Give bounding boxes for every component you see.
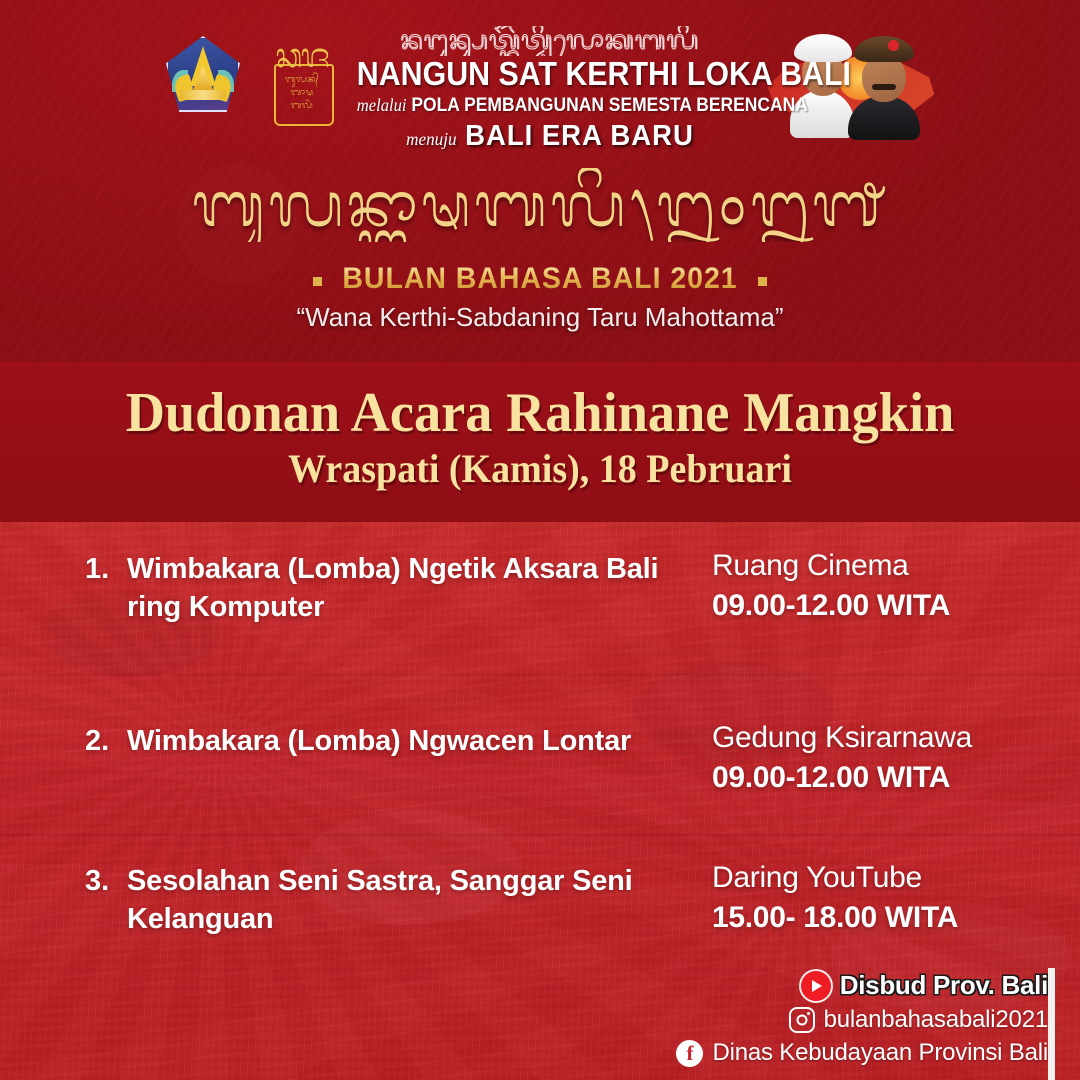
bullet-square-left-icon bbox=[313, 277, 322, 286]
poster-header: ᬘᬚ ᬩᬸᬮᬦ᭄ᬩᬵᬱᬩᬮᬶ ᬦᬗᬸᬦ᭄ᬲᬢ᭄ᬓᭂᬃᬢ᭄ᬣᬶᬮᭀᬓᬩᬮᬶ NAN… bbox=[0, 0, 1080, 362]
row-number: 1. bbox=[85, 550, 125, 588]
event-name: BULAN BAHASA BALI 2021 bbox=[342, 262, 737, 296]
slogan-line-1: NANGUN SAT KERTHI LOKA BALI bbox=[357, 56, 743, 92]
instagram-handle: bulanbahasabali2021 bbox=[824, 1006, 1048, 1034]
bullet-square-right-icon bbox=[758, 277, 767, 286]
banner-title: Dudonan Acara Rahinane Mangkin bbox=[16, 382, 1064, 444]
poster-canvas: ᬘᬚ ᬩᬸᬮᬦ᭄ᬩᬵᬱᬩᬮᬶ ᬦᬗᬸᬦ᭄ᬲᬢ᭄ᬓᭂᬃᬢ᭄ᬣᬶᬮᭀᬓᬩᬮᬶ NAN… bbox=[0, 0, 1080, 1080]
row-title: Wimbakara (Lomba) Ngetik Aksara Bali rin… bbox=[127, 550, 697, 626]
social-youtube-row[interactable]: Disbud Prov. Bali bbox=[618, 970, 1048, 1001]
slogan-line-2-main: POLA PEMBANGUNAN SEMESTA BERENCANA bbox=[411, 95, 808, 116]
slogan-line-2-prefix: melalui bbox=[357, 95, 407, 115]
footer-accent-bar bbox=[1048, 968, 1055, 1080]
facebook-handle: Dinas Kebudayaan Provinsi Bali bbox=[712, 1039, 1048, 1067]
social-facebook-row[interactable]: f Dinas Kebudayaan Provinsi Bali bbox=[618, 1039, 1048, 1067]
slogan-line-2: melalui POLA PEMBANGUNAN SEMESTA BERENCA… bbox=[357, 92, 743, 119]
row-time: 09.00-12.00 WITA bbox=[712, 758, 1072, 798]
event-tagline: “Wana Kerthi-Sabdaning Taru Mahottama” bbox=[0, 302, 1080, 333]
row-place: Gedung Ksirarnawa bbox=[712, 718, 1072, 758]
instagram-icon bbox=[789, 1007, 815, 1033]
row-time: 15.00- 18.00 WITA bbox=[712, 898, 1072, 938]
slogan-line-3-prefix: menuju bbox=[406, 129, 456, 149]
event-name-row: BULAN BAHASA BALI 2021 bbox=[0, 262, 1080, 296]
row-number: 3. bbox=[85, 862, 125, 900]
youtube-handle: Disbud Prov. Bali bbox=[840, 970, 1048, 1001]
slogan-line-3-main: BALI ERA BARU bbox=[465, 120, 694, 152]
social-instagram-row[interactable]: bulanbahasabali2021 bbox=[618, 1006, 1048, 1034]
title-banner: Dudonan Acara Rahinane Mangkin Wraspati … bbox=[0, 362, 1080, 522]
provincial-slogan-block: ᬦᬗᬸᬦ᭄ᬲᬢ᭄ᬓᭂᬃᬢ᭄ᬣᬶᬮᭀᬓᬩᬮᬶ NANGUN SAT KERTHI … bbox=[340, 26, 760, 156]
row-place: Daring YouTube bbox=[712, 858, 1072, 898]
bulan-bahasa-bali-lontar-logo-icon: ᬘᬚ ᬩᬸᬮᬦ᭄ᬩᬵᬱᬩᬮᬶ bbox=[265, 30, 339, 126]
bali-province-emblem-icon bbox=[166, 36, 240, 112]
facebook-icon: f bbox=[676, 1040, 703, 1067]
social-footer: Disbud Prov. Bali bulanbahasabali2021 f … bbox=[618, 970, 1048, 1072]
event-title-balinese-script: ᬩᬸᬮᬦ᭄ᬩᬵᬱᬩᬮᬶ᭞᭒᭐᭒᭑ bbox=[0, 168, 1080, 242]
row-number: 2. bbox=[85, 722, 125, 760]
row-title: Wimbakara (Lomba) Ngwacen Lontar bbox=[127, 722, 697, 760]
row-place: Ruang Cinema bbox=[712, 546, 1072, 586]
row-title: Sesolahan Seni Sastra, Sanggar Seni Kela… bbox=[127, 862, 697, 938]
row-time: 09.00-12.00 WITA bbox=[712, 586, 1072, 626]
banner-subtitle: Wraspati (Kamis), 18 Pebruari bbox=[27, 446, 1053, 492]
slogan-aksara-text: ᬦᬗᬸᬦ᭄ᬲᬢ᭄ᬓᭂᬃᬢ᭄ᬣᬶᬮᭀᬓᬩᬮᬶ bbox=[340, 26, 760, 56]
slogan-line-3: menuju BALI ERA BARU bbox=[351, 119, 750, 156]
youtube-icon bbox=[801, 971, 831, 1001]
